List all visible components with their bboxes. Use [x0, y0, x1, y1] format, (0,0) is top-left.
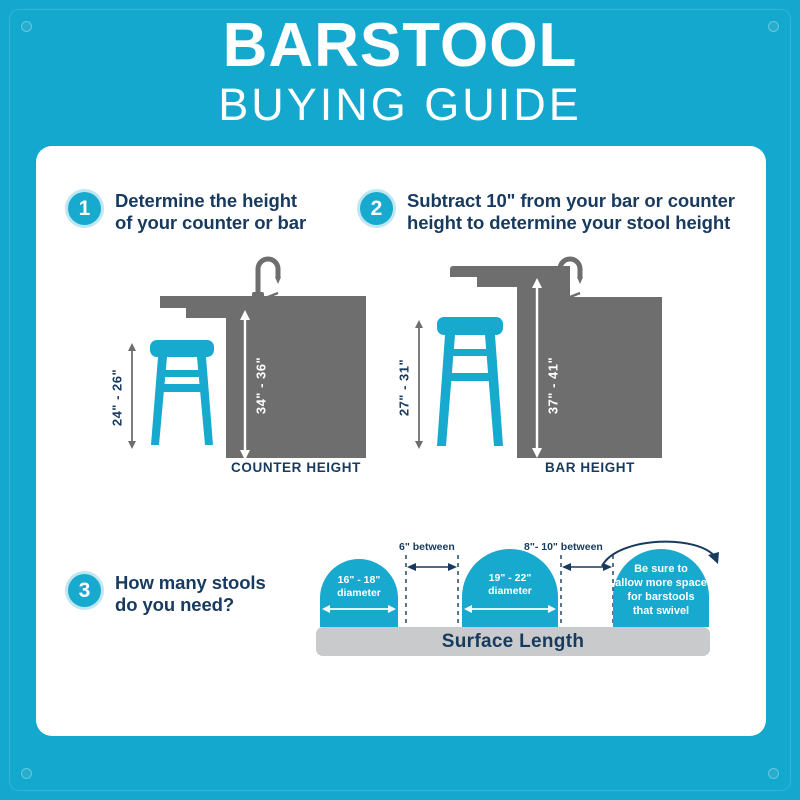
stool-circle-large-label: 19" - 22" diameter [462, 572, 558, 598]
gap-small-label: 6" between [399, 541, 455, 553]
swivel-note-line-4: that swivel [607, 604, 715, 618]
stool-large-diameter-unit: diameter [462, 585, 558, 598]
swivel-note-line-2: allow more space [607, 576, 715, 590]
step-3-badge: 3 [68, 574, 101, 607]
counter-stool-height-value: 24" - 26" [110, 363, 125, 433]
step-1-line-1: Determine the height [115, 190, 306, 212]
bar-height-caption: BAR HEIGHT [490, 460, 690, 475]
counter-stool-icon [148, 340, 216, 450]
page-title: BARSTOOL [0, 14, 800, 78]
header: BARSTOOL BUYING GUIDE [0, 14, 800, 130]
bar-height-arrow [530, 278, 544, 458]
counter-stool-height-arrow [126, 343, 138, 449]
swivel-note-line-3: for barstools [607, 590, 715, 604]
step-2-badge: 2 [360, 192, 393, 225]
step-2-text: Subtract 10" from your bar or counter he… [407, 190, 735, 234]
step-1-text: Determine the height of your counter or … [115, 190, 306, 234]
step-3-line-1: How many stools [115, 572, 266, 594]
step-2-line-2: height to determine your stool height [407, 212, 735, 234]
step-1-line-2: of your counter or bar [115, 212, 306, 234]
bar-top-slab [450, 266, 570, 277]
step-3-text: How many stools do you need? [115, 572, 266, 616]
counter-height-caption: COUNTER HEIGHT [196, 460, 396, 475]
infographic-canvas: BARSTOOL BUYING GUIDE 1 Determine the he… [0, 0, 800, 800]
stool-large-diameter-value: 19" - 22" [462, 572, 558, 585]
step-1-heading: 1 Determine the height of your counter o… [68, 190, 306, 234]
stool-small-diameter-value: 16" - 18" [320, 574, 398, 587]
corner-screw-icon [768, 768, 779, 779]
surface-length-bar: Surface Length [316, 627, 710, 656]
bar-overhang-ledge [477, 277, 570, 287]
counter-height-value: 34" - 36" [254, 351, 269, 421]
corner-screw-icon [21, 768, 32, 779]
counter-overhang-ledge [186, 308, 366, 318]
bar-stool-height-arrow [413, 320, 425, 449]
stool-circle-small-label: 16" - 18" diameter [320, 574, 398, 600]
swivel-note: Be sure to allow more space for barstool… [607, 562, 715, 618]
stool-small-diameter-arrow [322, 604, 396, 614]
gap-large-label: 8"- 10" between [524, 541, 603, 553]
step-2-line-1: Subtract 10" from your bar or counter [407, 190, 735, 212]
page-subtitle: BUYING GUIDE [0, 80, 800, 130]
stool-large-diameter-arrow [464, 604, 556, 614]
surface-length-label: Surface Length [442, 631, 585, 653]
bar-stool-icon [434, 317, 506, 451]
counter-top-slab [160, 296, 366, 308]
step-3-heading: 3 How many stools do you need? [68, 572, 266, 616]
swivel-rotation-arrow-icon [600, 534, 724, 570]
step-3-line-2: do you need? [115, 594, 266, 616]
gap-small-measure [404, 555, 460, 627]
stool-small-diameter-unit: diameter [320, 587, 398, 600]
step-1-badge: 1 [68, 192, 101, 225]
counter-height-arrow [238, 310, 252, 460]
bar-height-value: 37" - 41" [546, 351, 561, 421]
bar-stool-height-value: 27" - 31" [397, 353, 412, 423]
step-2-heading: 2 Subtract 10" from your bar or counter … [360, 190, 735, 234]
